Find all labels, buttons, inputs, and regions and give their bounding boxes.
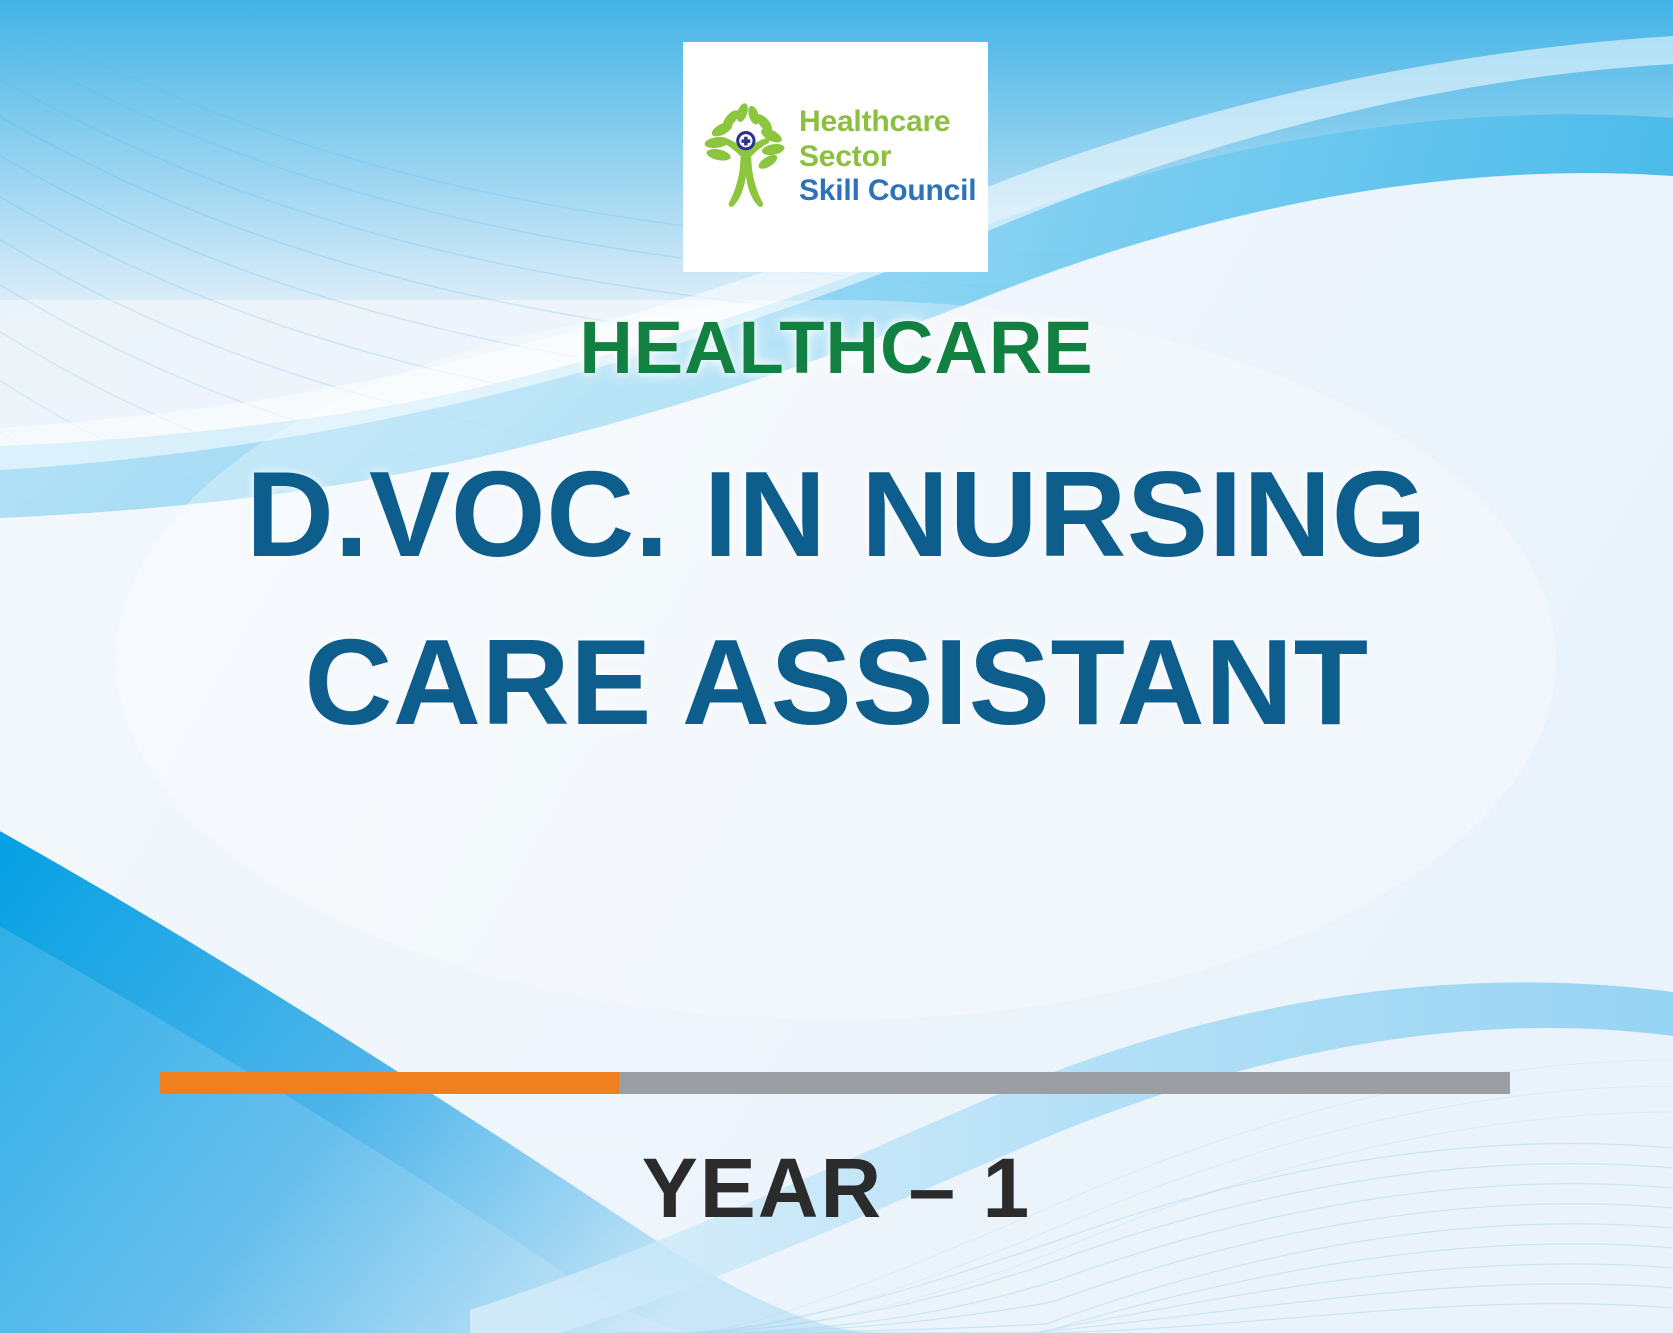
logo-line-skill-council: Skill Council — [799, 174, 976, 209]
logo-line-sector: Sector — [799, 140, 976, 175]
year-label: YEAR – 1 — [0, 1140, 1673, 1237]
divider-orange-segment — [160, 1072, 619, 1094]
logo-line-healthcare: Healthcare — [799, 105, 976, 140]
course-title-slide: Healthcare Sector Skill Council HEALTHCA… — [0, 0, 1673, 1333]
page-title: D.VOC. IN NURSING CARE ASSISTANT — [0, 430, 1673, 767]
sector-kicker-heading: HEALTHCARE — [0, 305, 1673, 390]
progress-divider-bar — [160, 1072, 1510, 1094]
tree-person-medical-cross-logo-icon — [701, 102, 789, 212]
organization-logo-card: Healthcare Sector Skill Council — [683, 42, 988, 272]
divider-grey-segment — [619, 1072, 1510, 1094]
